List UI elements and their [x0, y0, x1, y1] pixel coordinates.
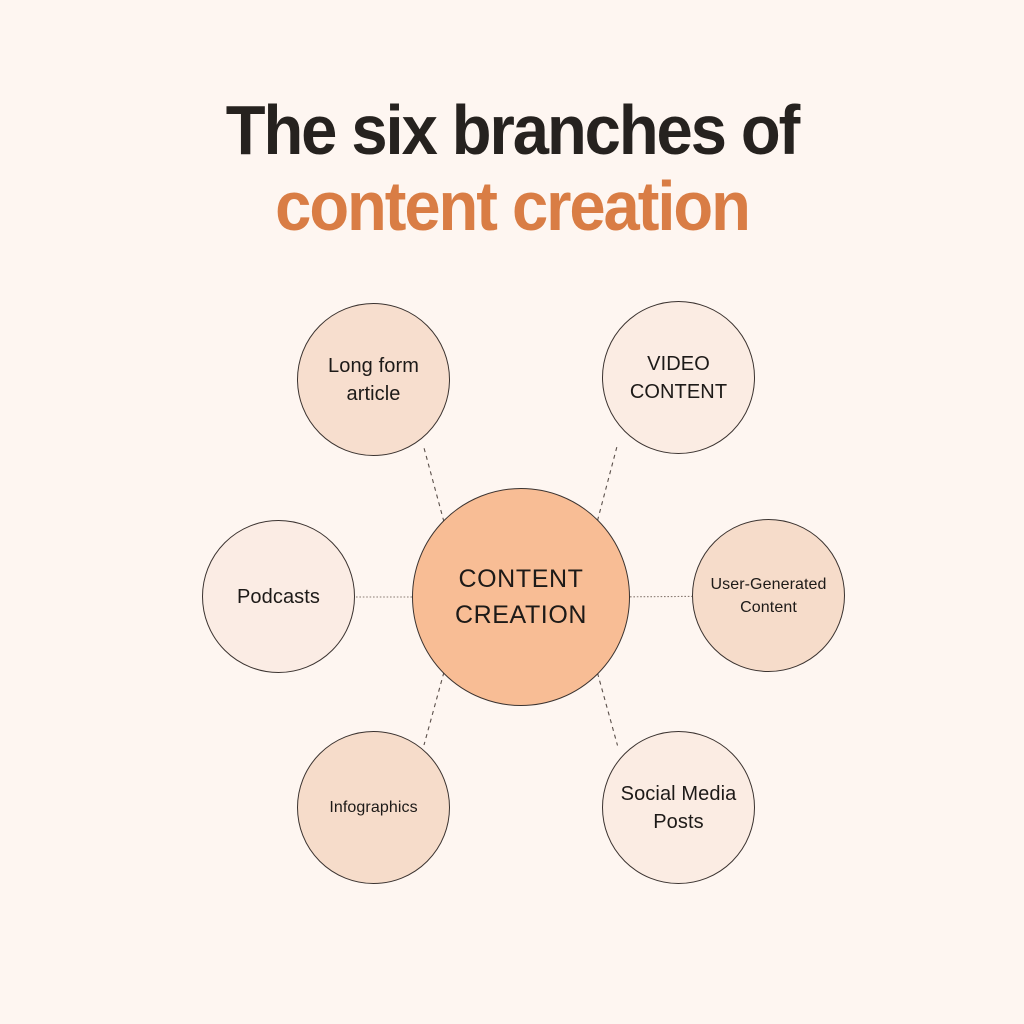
hub-and-spoke-diagram: CONTENT CREATION Long form article VIDEO… [0, 0, 1024, 1024]
node-label-user-generated-content: User-Generated Content [693, 573, 844, 619]
node-video-content[interactable]: VIDEO CONTENT [602, 301, 755, 454]
connector-hub-to-long-form-article [424, 448, 444, 522]
connector-hub-to-social-media-posts [598, 673, 618, 746]
node-label-social-media-posts: Social Media Posts [603, 780, 754, 836]
connector-hub-to-infographics [424, 672, 444, 745]
node-label-podcasts: Podcasts [231, 583, 326, 611]
node-label-long-form-article: Long form article [298, 352, 449, 408]
node-label-video-content: VIDEO CONTENT [603, 350, 754, 406]
node-content-creation[interactable]: CONTENT CREATION [412, 488, 630, 706]
node-social-media-posts[interactable]: Social Media Posts [602, 731, 755, 884]
node-user-generated-content[interactable]: User-Generated Content [692, 519, 845, 672]
node-podcasts[interactable]: Podcasts [202, 520, 355, 673]
connector-hub-to-video-content [598, 446, 618, 520]
node-label-infographics: Infographics [323, 796, 423, 819]
node-label-content-creation: CONTENT CREATION [413, 561, 629, 633]
infographic-canvas: The six branches of content creation CON… [0, 0, 1024, 1024]
node-long-form-article[interactable]: Long form article [297, 303, 450, 456]
node-infographics[interactable]: Infographics [297, 731, 450, 884]
